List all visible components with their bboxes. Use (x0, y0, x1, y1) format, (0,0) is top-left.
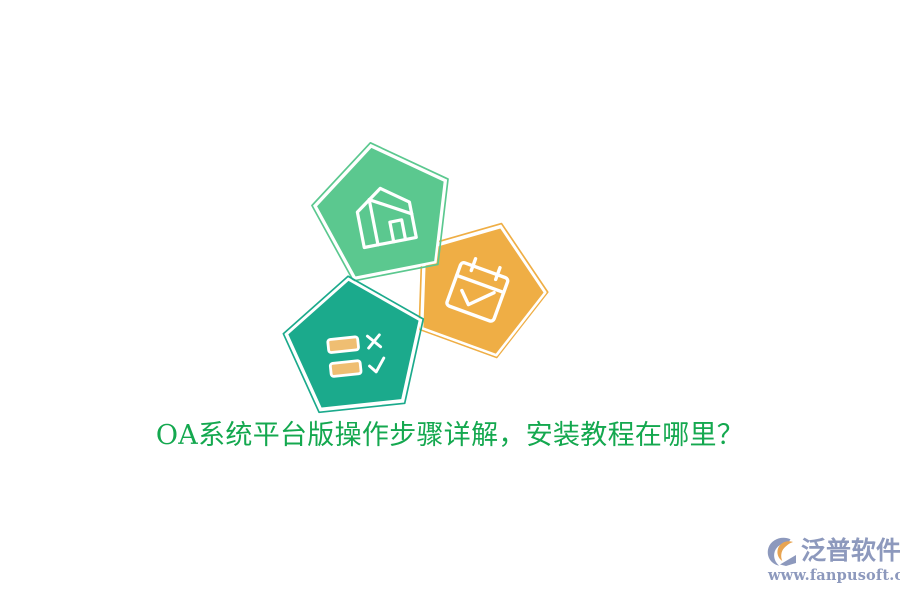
brand-logo[interactable]: 泛普软件 www.fanpusoft.com (766, 534, 898, 588)
fanpusoft-swoosh-icon (766, 535, 800, 567)
page-title: OA系统平台版操作步骤详解，安装教程在哪里？ (0, 417, 900, 455)
brand-name: 泛普软件 (801, 536, 900, 566)
page-canvas: OA系统平台版操作步骤详解，安装教程在哪里？ 泛普软件 www.fanpusof… (0, 0, 900, 600)
brand-logo-row: 泛普软件 (766, 534, 900, 568)
pentagon-checklist (255, 133, 555, 413)
pentagon-cluster-graphic (255, 133, 555, 413)
brand-url: www.fanpusoft.com (768, 567, 900, 584)
